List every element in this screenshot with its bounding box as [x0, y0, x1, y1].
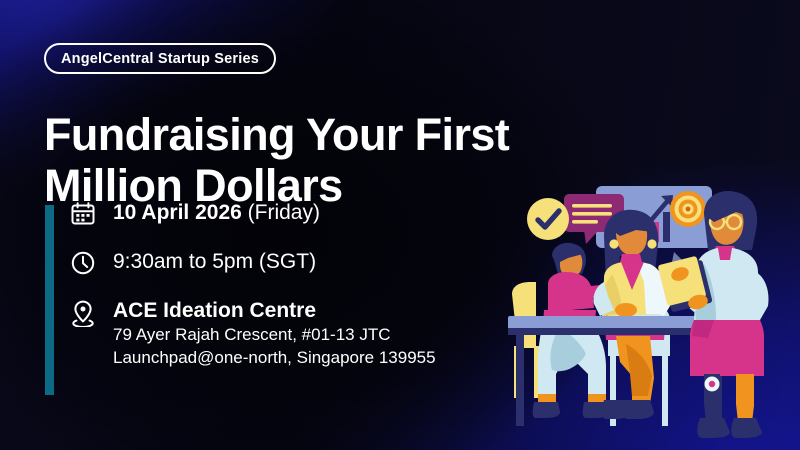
accent-bar	[45, 205, 54, 395]
series-badge-label: AngelCentral Startup Series	[61, 51, 259, 67]
event-day: (Friday)	[242, 201, 320, 224]
detail-text-time: 9:30am to 5pm (SGT)	[100, 249, 316, 275]
detail-row-date: 10 April 2026 (Friday)	[70, 200, 530, 227]
event-details: 10 April 2026 (Friday) 9:30am to 5pm (SG…	[70, 200, 530, 370]
checkmark-badge	[527, 198, 569, 240]
location-pin-icon	[70, 298, 100, 327]
event-poster: AngelCentral Startup Series Fundraising …	[0, 0, 800, 450]
calendar-icon	[70, 200, 100, 227]
detail-text-date: 10 April 2026 (Friday)	[100, 200, 320, 226]
bullseye-target	[670, 191, 706, 227]
series-badge: AngelCentral Startup Series	[44, 43, 276, 74]
event-date: 10 April 2026	[113, 201, 242, 224]
venue-name: ACE Ideation Centre	[113, 299, 316, 322]
venue-address-line2: Launchpad@one-north, Singapore 139955	[113, 347, 436, 370]
page-title-line1: Fundraising Your First	[44, 109, 509, 160]
venue-address-line1: 79 Ayer Rajah Crescent, #01-13 JTC	[113, 324, 436, 347]
detail-row-location: ACE Ideation Centre 79 Ayer Rajah Cresce…	[70, 298, 530, 370]
event-time: 9:30am to 5pm (SGT)	[113, 250, 316, 273]
detail-text-location: ACE Ideation Centre 79 Ayer Rajah Cresce…	[100, 298, 436, 370]
detail-row-time: 9:30am to 5pm (SGT)	[70, 249, 530, 276]
clock-icon	[70, 249, 100, 276]
business-meeting-illustration	[508, 178, 800, 450]
